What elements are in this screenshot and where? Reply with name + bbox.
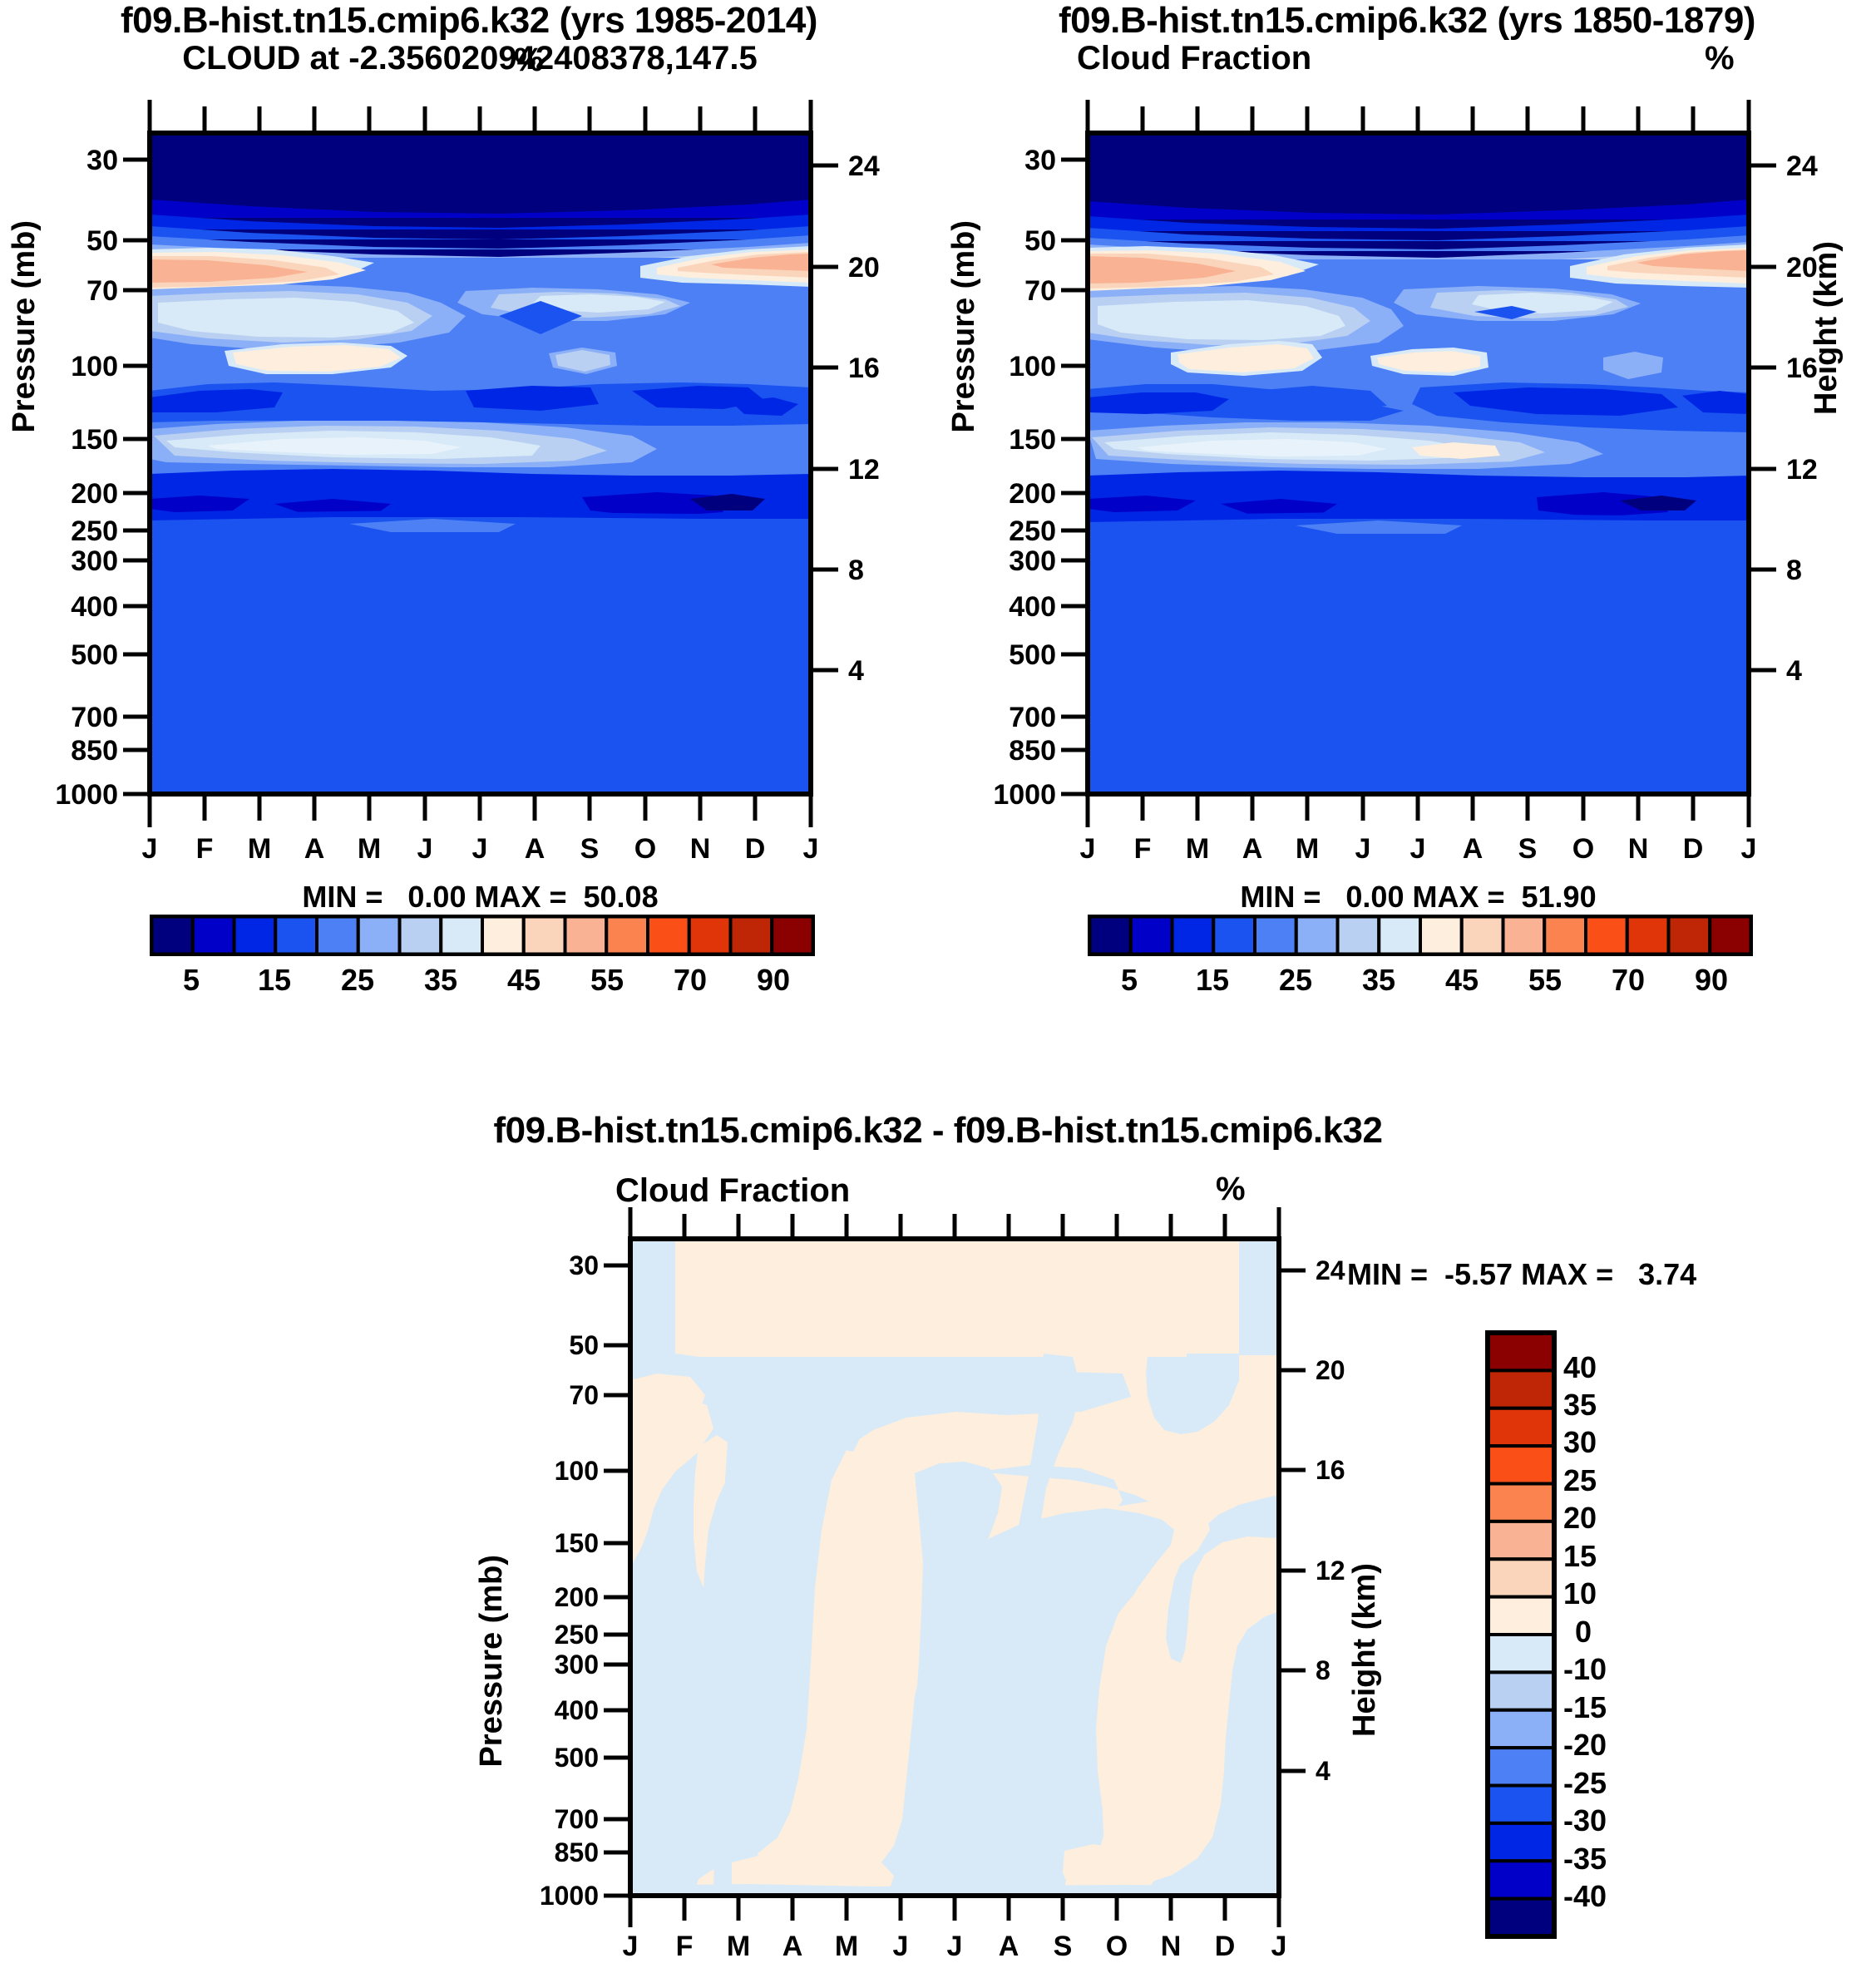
colorbar-cell <box>1488 1899 1554 1936</box>
colorbar-cell <box>193 916 234 954</box>
colorbar-cell <box>1379 916 1420 954</box>
colorbar-cell <box>1627 916 1669 954</box>
colorbar-cell <box>1710 916 1751 954</box>
colorbar-cell <box>1338 916 1380 954</box>
left-colorbar[interactable] <box>150 915 815 956</box>
colorbar-cell <box>1488 1710 1554 1748</box>
colorbar-cell <box>1488 1672 1554 1709</box>
colorbar-cell <box>1503 916 1545 954</box>
colorbar-cell <box>524 916 565 954</box>
colorbar-cell <box>1669 916 1711 954</box>
colorbar-cell <box>1488 1408 1554 1446</box>
diff-contour-field <box>630 1239 1279 1896</box>
colorbar-cell <box>1586 916 1627 954</box>
colorbar-cell <box>1488 1484 1554 1522</box>
colorbar-cell <box>689 916 731 954</box>
colorbar-cell <box>317 916 358 954</box>
colorbar-cell <box>151 916 193 954</box>
colorbar-cell <box>772 916 813 954</box>
colorbar-cell <box>648 916 689 954</box>
colorbar-cell <box>234 916 276 954</box>
colorbar-cell <box>1488 1786 1554 1823</box>
colorbar-cell <box>482 916 524 954</box>
diff-colorbar[interactable] <box>1485 1330 1557 1939</box>
right-minmax: MIN = 0.00 MAX = 51.90 <box>1088 880 1749 915</box>
colorbar-cell <box>1296 916 1338 954</box>
colorbar-cell <box>1488 1861 1554 1898</box>
diff-panel-title: f09.B-hist.tn15.cmip6.k32 - f09.B-hist.t… <box>0 1110 1876 1152</box>
colorbar-cell <box>606 916 648 954</box>
colorbar-cell <box>358 916 400 954</box>
colorbar-cell <box>441 916 482 954</box>
colorbar-cell <box>1488 1635 1554 1672</box>
colorbar-cell <box>1462 916 1503 954</box>
colorbar-cell <box>1420 916 1462 954</box>
left-contour-field <box>150 133 811 794</box>
right-colorbar[interactable] <box>1088 915 1753 956</box>
colorbar-cell <box>1172 916 1214 954</box>
colorbar-cell <box>1488 1748 1554 1785</box>
colorbar-cell <box>1488 1446 1554 1483</box>
right-contour-field <box>1088 133 1749 794</box>
colorbar-cell <box>565 916 607 954</box>
colorbar-cell <box>1488 1597 1554 1635</box>
colorbar-cell <box>1488 1522 1554 1559</box>
colorbar-cell <box>1131 916 1172 954</box>
left-minmax: MIN = 0.00 MAX = 50.08 <box>150 880 811 915</box>
colorbar-cell <box>1488 1559 1554 1596</box>
colorbar-cell <box>1544 916 1586 954</box>
colorbar-cell <box>1488 1333 1554 1370</box>
diff-colorbar-labels: 40 35 30 25 20 15 10 0 -10 -15 -20 -25 -… <box>1563 1330 1730 1939</box>
colorbar-cell <box>1213 916 1255 954</box>
colorbar-cell <box>275 916 317 954</box>
diff-minmax: MIN = -5.57 MAX = 3.74 <box>1347 1257 1813 1292</box>
colorbar-cell <box>731 916 773 954</box>
colorbar-cell <box>1255 916 1296 954</box>
colorbar-cell <box>400 916 442 954</box>
colorbar-cell <box>1488 1370 1554 1408</box>
colorbar-cell <box>1089 916 1131 954</box>
colorbar-cell <box>1488 1823 1554 1861</box>
